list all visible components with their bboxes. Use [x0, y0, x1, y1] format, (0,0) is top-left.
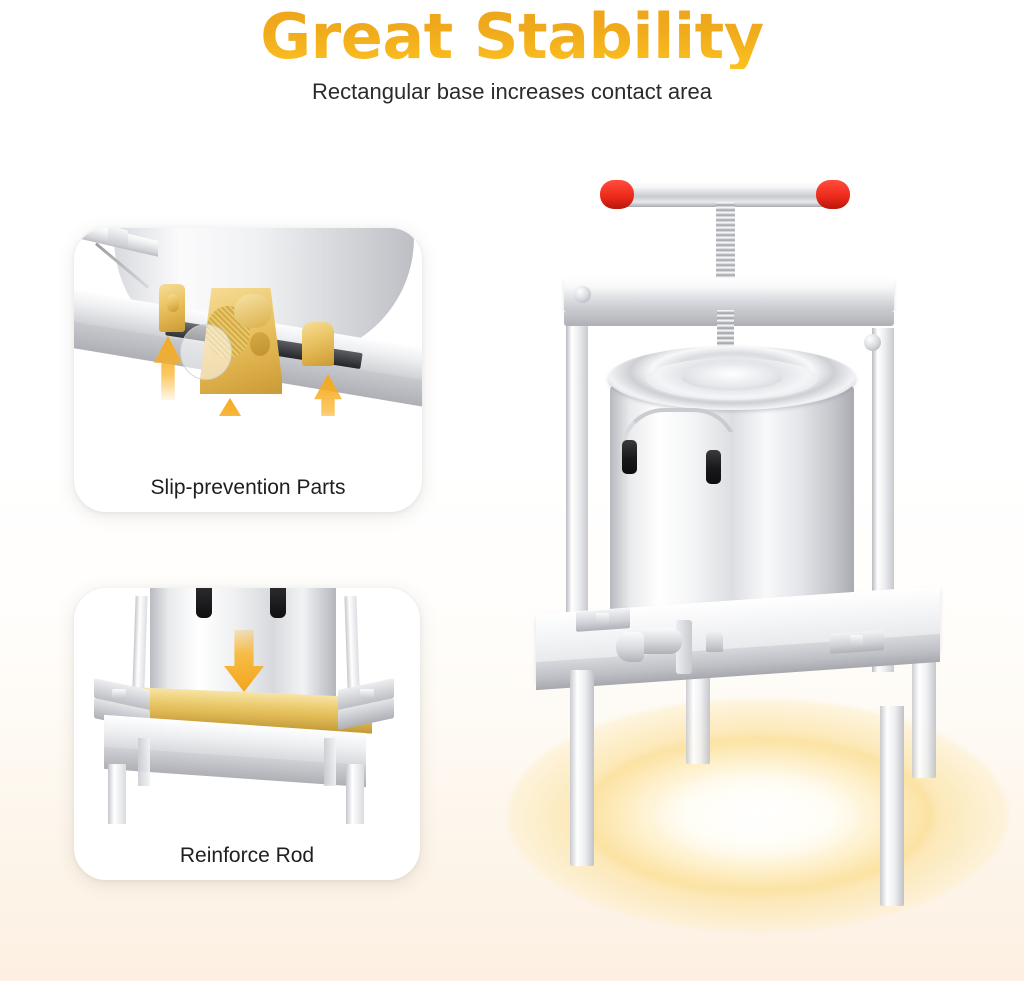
crossbar-rivet-left [574, 286, 591, 303]
stand-leg-front-left [570, 670, 594, 866]
frame-post-right [344, 596, 359, 688]
crossbar-rivet-right [864, 334, 881, 351]
feature-card-slip-prevention: Slip-prevention Parts [74, 228, 422, 512]
leg-front-left [108, 764, 126, 824]
translucent-disc [180, 324, 232, 380]
frame-post-left [566, 282, 588, 666]
card-label-slip-prevention: Slip-prevention Parts [74, 476, 422, 500]
base-bolt-left [596, 613, 609, 624]
slip-prevention-illustration [74, 228, 422, 456]
barrel-grip-left [196, 588, 212, 618]
page-subtitle: Rectangular base increases contact area [0, 79, 1024, 105]
slip-part-right-detail [310, 334, 328, 352]
spigot-knob [616, 632, 644, 662]
slip-part-center-hole [250, 332, 270, 356]
product-feature-graphic: Great Stability Rectangular base increas… [0, 0, 1024, 981]
stand-leg-back-right [912, 650, 936, 778]
t-handle-cap-left [600, 180, 634, 209]
press-lid-center [682, 366, 782, 390]
page-title: Great Stability [0, 0, 1024, 69]
leg-back-left [138, 738, 150, 786]
leg-front-right [346, 764, 364, 824]
barrel-locating-tab [706, 630, 723, 652]
feature-card-reinforce-rod: Reinforce Rod [74, 588, 420, 880]
bracket-bolt-right [360, 689, 374, 699]
barrel-grip-left [622, 440, 637, 474]
glow-ring-core [654, 769, 862, 861]
reinforce-rod-illustration [74, 588, 420, 824]
barrel-grip-right [270, 588, 286, 618]
slip-part-center-boss [234, 294, 272, 328]
frame-crossbar [564, 278, 894, 312]
t-handle-cap-right [816, 180, 850, 209]
header: Great Stability Rectangular base increas… [0, 0, 1024, 105]
slip-part-left-detail [167, 294, 179, 312]
base-bolt-right [850, 635, 863, 646]
barrel-grip-right [706, 450, 721, 484]
foreground-mask [74, 416, 422, 456]
card-label-reinforce-rod: Reinforce Rod [74, 844, 420, 868]
leg-back-right [324, 738, 336, 786]
bracket-bolt-left [112, 689, 126, 699]
frame-post-left [132, 596, 147, 688]
product-image [500, 150, 1024, 950]
stand-leg-front-right [880, 706, 904, 906]
